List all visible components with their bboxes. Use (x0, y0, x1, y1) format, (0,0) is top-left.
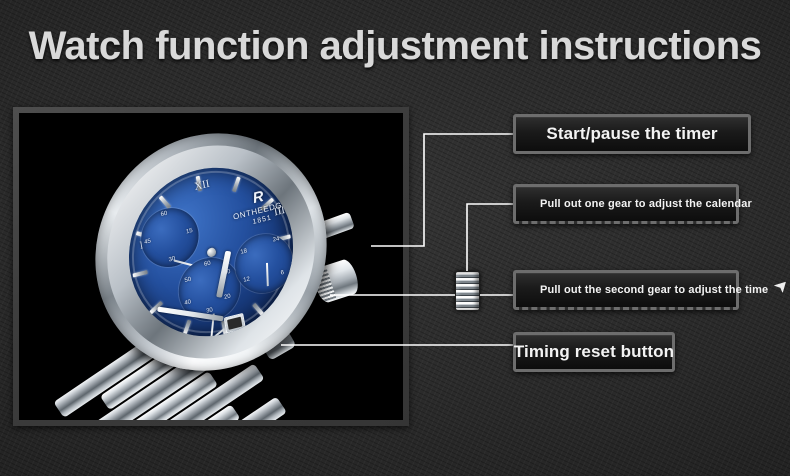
callout-label: Timing reset button (514, 342, 674, 362)
callout-label: Pull out the second gear to adjust the t… (540, 284, 768, 296)
subdial-tick: 15 (186, 228, 194, 236)
callout-pull-out-one-gear[interactable]: Pull out one gear to adjust the calendar (513, 184, 739, 224)
subdial-tick: 12 (243, 276, 251, 284)
subdial-tick: 40 (184, 299, 192, 307)
watch-photo: XII IX III R ONTHEEDGE 1851 60 45 (19, 113, 403, 420)
subdial-tick: 20 (224, 293, 232, 301)
leader-line-calendar (467, 204, 513, 271)
watch-dial: XII IX III R ONTHEEDGE 1851 60 45 (116, 150, 306, 354)
callout-timing-reset-button[interactable]: Timing reset button (513, 332, 675, 372)
subdial-tick: 60 (204, 260, 212, 268)
cursor-arrow-icon (773, 280, 787, 293)
subdial-tick: 18 (240, 248, 248, 256)
slide-canvas: Watch function adjustment instructions (0, 0, 790, 476)
crown-diagram-icon (455, 271, 480, 311)
callout-label: Pull out one gear to adjust the calendar (540, 198, 752, 210)
date-value (227, 317, 242, 330)
date-window (224, 313, 246, 334)
subdial-tick: 60 (160, 211, 168, 219)
subdial-tick: 45 (144, 238, 152, 246)
callout-pull-out-second-gear[interactable]: Pull out the second gear to adjust the t… (513, 270, 739, 310)
subdial-tick: 50 (184, 277, 192, 285)
subdial-tick: 24 (272, 236, 280, 244)
page-title: Watch function adjustment instructions (0, 24, 790, 69)
watch-illustration: XII IX III R ONTHEEDGE 1851 60 45 (19, 113, 403, 420)
callout-start-pause-the-timer[interactable]: Start/pause the timer (513, 114, 751, 154)
subdial-tick: 6 (280, 270, 284, 277)
watch-photo-frame: XII IX III R ONTHEEDGE 1851 60 45 (13, 107, 409, 426)
callout-label: Start/pause the timer (546, 124, 717, 144)
